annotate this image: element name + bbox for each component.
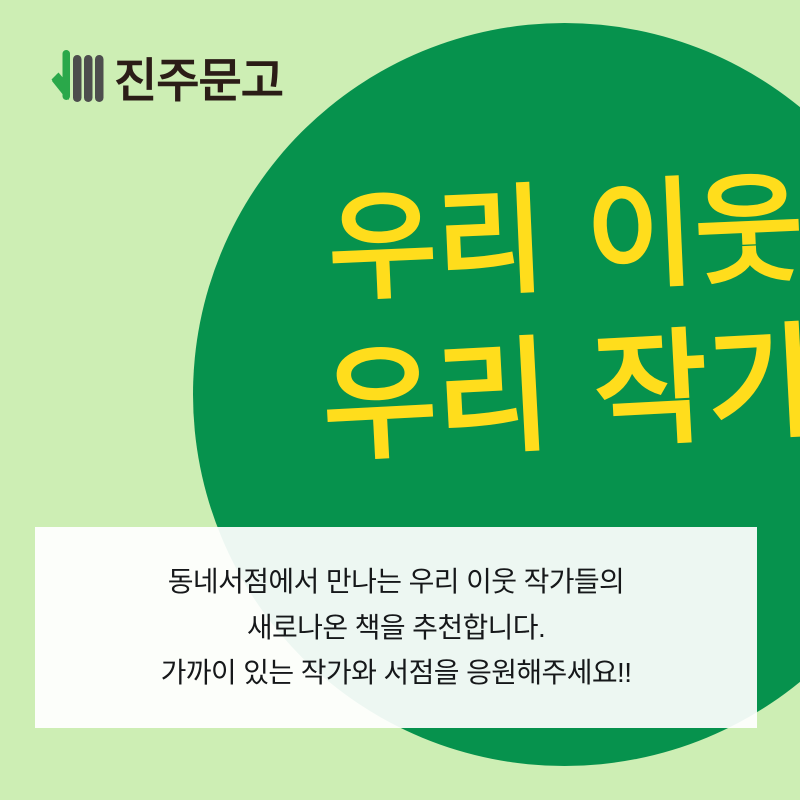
description-line-1: 동네서점에서 만나는 우리 이웃 작가들의 [168, 559, 624, 604]
brand-logo-lockup[interactable]: 진주문고 [48, 48, 283, 106]
brand-wordmark: 진주문고 [114, 57, 283, 104]
jinju-mungo-logo-icon [48, 48, 110, 106]
promo-poster: 진주문고 우리 이웃, 우리 작가 동네서점에서 만나는 우리 이웃 작가들의 … [0, 0, 800, 800]
description-panel: 동네서점에서 만나는 우리 이웃 작가들의 새로나온 책을 추천합니다. 가까이… [35, 527, 757, 728]
description-line-2: 새로나온 책을 추천합니다. [247, 605, 545, 650]
description-line-3: 가까이 있는 작가와 서점을 응원해주세요!! [161, 650, 632, 695]
